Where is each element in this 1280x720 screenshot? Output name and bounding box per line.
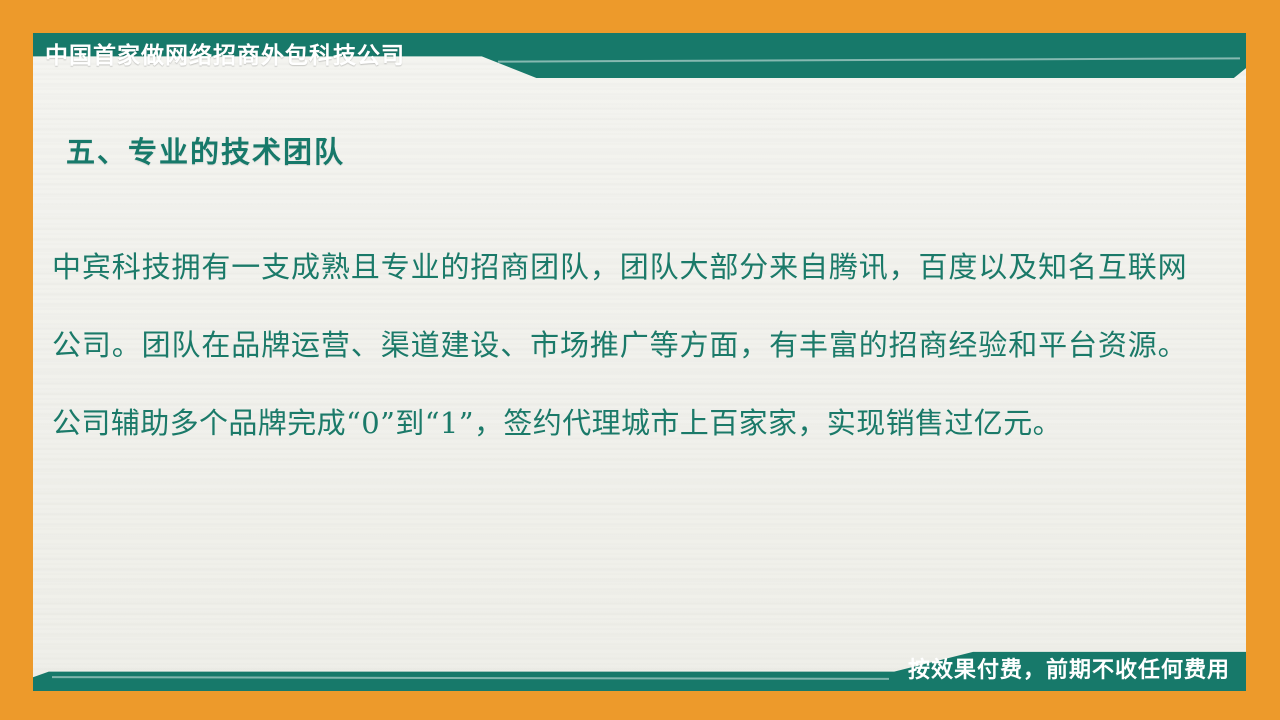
slide-canvas: 中国首家做网络招商外包科技公司 五、专业的技术团队 中宾科技拥有一支成熟且专业的…: [0, 0, 1280, 720]
header-title: 中国首家做网络招商外包科技公司: [45, 38, 405, 72]
footer-slogan: 按效果付费，前期不收任何费用: [908, 655, 1230, 685]
section-title: 五、专业的技术团队: [66, 133, 345, 173]
header-band: 中国首家做网络招商外包科技公司: [33, 33, 1246, 78]
body-paragraph: 中宾科技拥有一支成熟且专业的招商团队，团队大部分来自腾讯，百度以及知名互联网公司…: [52, 228, 1187, 462]
footer-band: 按效果付费，前期不收任何费用: [33, 648, 1246, 691]
